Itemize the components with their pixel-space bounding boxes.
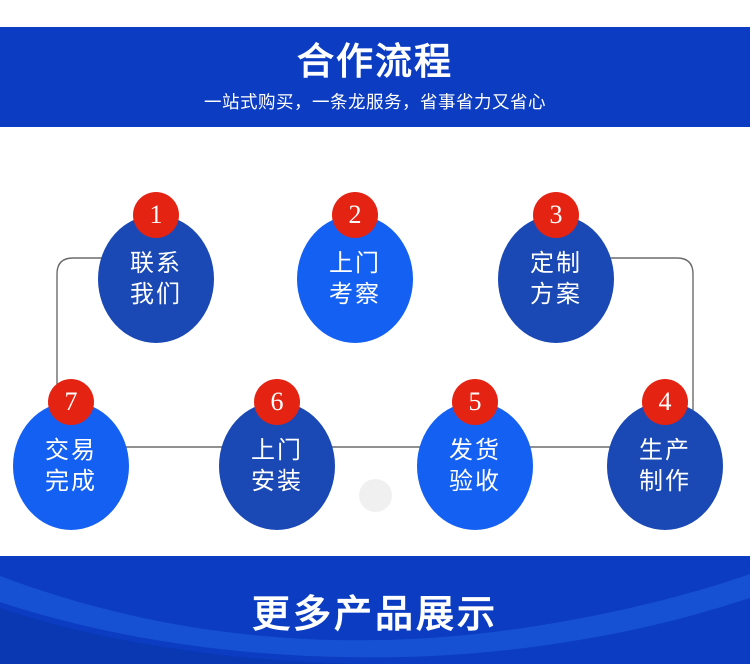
flow-step-6[interactable]: 上门 安装 6 [219,402,335,530]
flow-step-1-label-line1: 联系 [130,248,182,279]
flow-step-1-label-line2: 我们 [130,279,182,310]
header-banner: 合作流程 一站式购买，一条龙服务，省事省力又省心 [0,27,750,127]
flow-step-7-number-badge: 7 [48,379,94,425]
page-subtitle: 一站式购买，一条龙服务，省事省力又省心 [0,89,750,115]
flow-step-5-number-badge: 5 [452,379,498,425]
flow-step-7[interactable]: 交易 完成 7 [13,402,129,530]
flow-step-4-number-badge: 4 [642,379,688,425]
footer-banner: 更多产品展示 [0,556,750,664]
flow-step-2-label-line1: 上门 [329,248,381,279]
flow-step-6-number-badge: 6 [254,379,300,425]
flow-step-4-label-line2: 制作 [639,466,691,497]
page-title: 合作流程 [0,39,750,85]
decorative-dot [359,479,392,512]
flow-step-5-label-line1: 发货 [449,435,501,466]
flow-step-7-label-line2: 完成 [45,466,97,497]
flow-step-3[interactable]: 定制 方案 3 [498,215,614,343]
flow-step-5[interactable]: 发货 验收 5 [417,402,533,530]
flow-step-6-label-line1: 上门 [251,435,303,466]
flow-step-3-label-line1: 定制 [530,248,582,279]
footer-title: 更多产品展示 [0,556,750,664]
flow-step-7-label-line1: 交易 [45,435,97,466]
flow-step-3-label-line2: 方案 [530,279,582,310]
flow-step-2[interactable]: 上门 考察 2 [297,215,413,343]
flow-step-6-label-line2: 安装 [251,466,303,497]
flow-infographic-page: 合作流程 一站式购买，一条龙服务，省事省力又省心 联系 我们 1 上门 考察 2 [0,0,750,664]
flow-step-1-number-badge: 1 [133,192,179,238]
flow-step-4-label-line1: 生产 [639,435,691,466]
flow-step-5-label-line2: 验收 [449,466,501,497]
flow-step-2-label-line2: 考察 [329,279,381,310]
flow-step-2-number-badge: 2 [332,192,378,238]
flow-step-3-number-badge: 3 [533,192,579,238]
flow-step-4[interactable]: 生产 制作 4 [607,402,723,530]
flow-step-1[interactable]: 联系 我们 1 [98,215,214,343]
